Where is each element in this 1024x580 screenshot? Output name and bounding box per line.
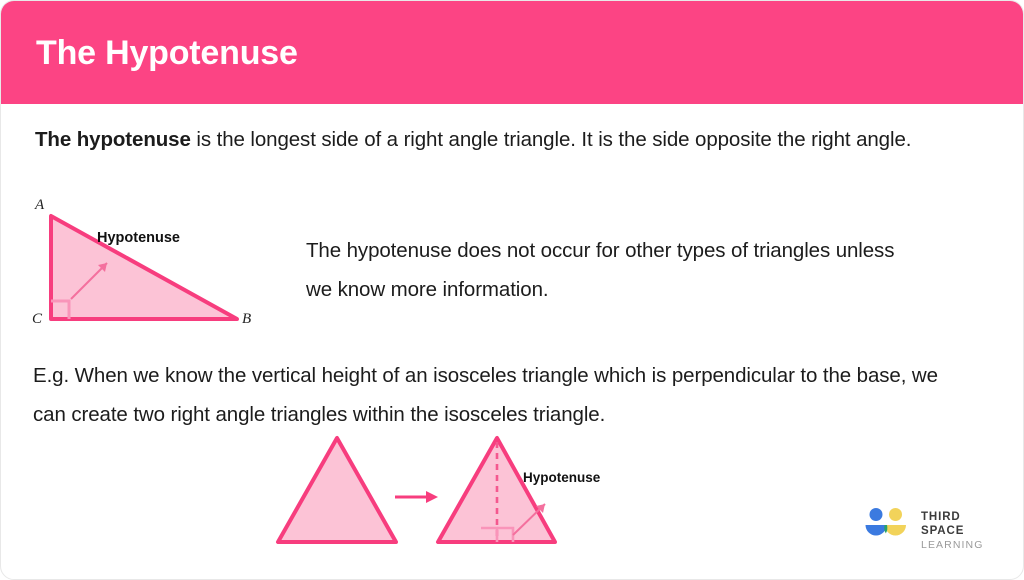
vertex-label-b: B	[242, 311, 251, 328]
isosceles-triangle-plain	[278, 438, 396, 542]
brand-logo: THIRD SPACE LEARNING	[863, 504, 1003, 546]
hypotenuse-caption-bottom: Hypotenuse	[523, 470, 600, 485]
hypotenuse-caption-top: Hypotenuse	[97, 230, 180, 246]
logo-overlap-green-2-icon	[884, 525, 887, 533]
logo-line-2: LEARNING	[921, 538, 1003, 552]
intro-rest-text: is the longest side of a right angle tri…	[191, 128, 912, 151]
example-paragraph: E.g. When we know the vertical height of…	[33, 356, 943, 434]
side-note-paragraph: The hypotenuse does not occur for other …	[306, 231, 906, 309]
logo-body-yellow-icon	[885, 525, 906, 536]
logo-head-blue-icon	[870, 508, 883, 521]
intro-bold-term: The hypotenuse	[35, 128, 191, 151]
page-title: The Hypotenuse	[36, 36, 298, 70]
vertex-label-a: A	[35, 197, 44, 214]
logo-line-1: THIRD SPACE	[921, 510, 1003, 538]
right-angle-triangle-diagram: A C B	[23, 193, 293, 333]
vertex-label-c: C	[32, 311, 42, 328]
logo-head-yellow-icon	[889, 508, 902, 521]
logo-body-blue-icon	[866, 525, 887, 536]
intro-paragraph: The hypotenuse is the longest side of a …	[35, 120, 1015, 159]
slide-canvas: The Hypotenuse The hypotenuse is the lon…	[0, 0, 1024, 580]
third-space-learning-mark-icon	[863, 506, 913, 542]
slide-header: The Hypotenuse	[1, 1, 1024, 104]
right-angle-triangle-svg	[23, 193, 293, 333]
logo-wordmark: THIRD SPACE LEARNING	[921, 510, 1003, 552]
isosceles-split-diagram	[266, 426, 646, 556]
isosceles-split-svg	[266, 426, 646, 556]
transform-arrow-head	[426, 491, 438, 503]
